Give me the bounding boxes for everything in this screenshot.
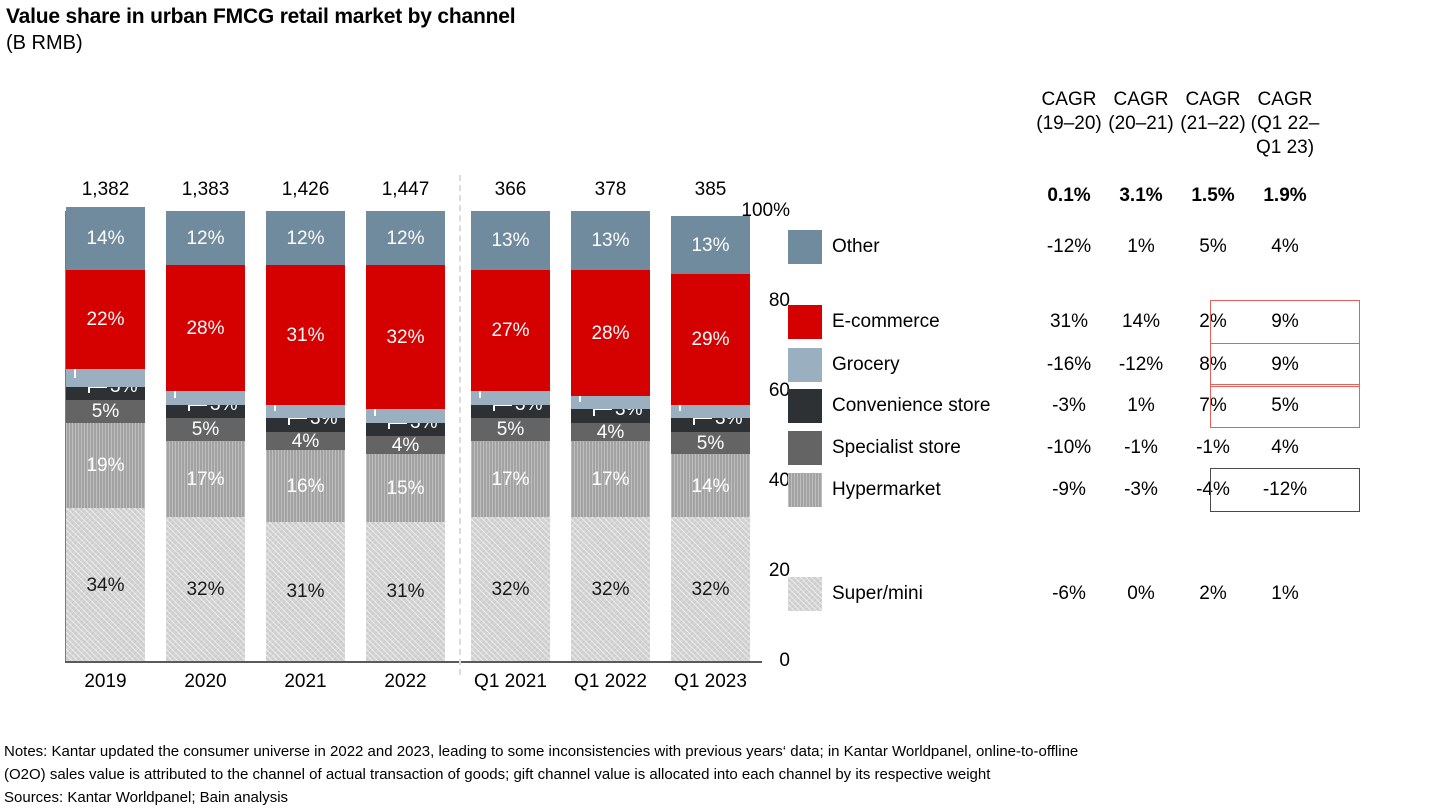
footnotes: Notes: Kantar updated the consumer unive… [4,740,1436,809]
cagr-value-specialist-store-col4: 4% [1210,437,1360,459]
cagr-value-grocery-col4: 9% [1210,343,1360,387]
legend-swatch-specialist-store [788,431,822,465]
cagr-total-value: 1.9% [1210,185,1360,207]
bar-segment-label: 4% [571,423,650,442]
cagr-value-hypermarket-col4: -12% [1210,468,1360,512]
notes-line-2: (O2O) sales value is attributed to the c… [4,763,1436,786]
bar-segment-label: 17% [471,470,550,489]
legend-label-other: Other [832,237,880,257]
legend-label-specialist-store: Specialist store [832,438,961,458]
legend-label-convenience-store: Convenience store [832,396,990,416]
bar-segment-label: 32% [366,328,445,347]
legend-swatch-e-commerce [788,305,822,339]
bar-segment-label: 32% [166,580,245,599]
x-tick-2020: 2020 [151,671,261,693]
cagr-value-e-commerce-col4: 9% [1210,300,1360,344]
bar-segment-label: 5% [166,420,245,439]
bar-segment-label: 13% [671,236,750,255]
x-axis-line [65,661,762,663]
bar-segment-grocery [366,409,445,423]
bar-segment-label: 17% [571,470,650,489]
sources-line: Sources: Kantar Worldpanel; Bain analysi… [4,786,1436,809]
bar-segment-label: 16% [266,477,345,496]
legend-swatch-super-mini [788,577,822,611]
x-tick-q1-2021: Q1 2021 [456,671,566,693]
cagr-header-line3: Q1 23) [1210,136,1360,160]
bar-segment-label: 28% [571,324,650,343]
bar-segment-grocery [166,391,245,405]
legend-label-e-commerce: E-commerce [832,312,940,332]
x-tick-2021: 2021 [251,671,361,693]
bar-segment-label: 4% [266,432,345,451]
bar-segment-label: 4% [366,436,445,455]
bar-total-label: 1,447 [351,179,461,201]
legend-and-cagr-table: CAGR(19–20)CAGR(20–21)CAGR(21–22)CAGR(Q1… [786,0,1440,700]
legend-label-super-mini: Super/mini [832,584,923,604]
bar-total-label: 385 [656,179,766,201]
legend-swatch-grocery [788,348,822,382]
bar-segment-label: 12% [366,229,445,248]
bar-segment-label: 31% [266,582,345,601]
legend-swatch-other [788,230,822,264]
bar-segment-label: 13% [471,231,550,250]
bar-segment-label: 17% [166,470,245,489]
x-tick-2022: 2022 [351,671,461,693]
bar-segment-label: 5% [66,402,145,421]
bar-segment-label: 31% [366,582,445,601]
cagr-header-line2: (Q1 22– [1210,112,1360,136]
bar-segment-grocery [66,369,145,387]
bar-segment-label: 12% [166,229,245,248]
x-tick-2019: 2019 [51,671,161,693]
bar-segment-grocery [266,405,345,419]
bar-segment-label: 34% [66,576,145,595]
x-tick-q1-2023: Q1 2023 [656,671,766,693]
legend-swatch-convenience-store [788,389,822,423]
bar-segment-label: 14% [66,229,145,248]
bar-segment-label: 29% [671,330,750,349]
bar-segment-label: 5% [471,420,550,439]
legend-label-hypermarket: Hypermarket [832,480,941,500]
bar-segment-label: 5% [671,434,750,453]
bar-segment-label: 19% [66,456,145,475]
x-tick-q1-2022: Q1 2022 [556,671,666,693]
cagr-header-line1: CAGR [1210,88,1360,112]
bar-segment-label: 27% [471,321,550,340]
notes-line-1: Notes: Kantar updated the consumer unive… [4,740,1436,763]
bar-total-label: 1,426 [251,179,361,201]
legend-label-grocery: Grocery [832,355,900,375]
cagr-header-4: CAGR(Q1 22–Q1 23) [1210,88,1360,160]
bar-segment-label: 13% [571,231,650,250]
cagr-value-super-mini-col4: 1% [1210,583,1360,605]
chart-plot-area: 020406080100% 1,38234%19%5%3%4%22%14%1,3… [0,0,790,700]
bar-segment-label: 15% [366,479,445,498]
bar-segment-label: 31% [266,326,345,345]
bar-segment-label: 32% [471,580,550,599]
bar-total-label: 1,383 [151,179,261,201]
bar-segment-grocery [471,391,550,405]
bar-total-label: 366 [456,179,566,201]
bar-total-label: 378 [556,179,666,201]
bar-total-label: 1,382 [51,179,161,201]
bar-segment-label: 32% [571,580,650,599]
cagr-value-other-col4: 4% [1210,236,1360,258]
bar-segment-label: 22% [66,310,145,329]
bar-segment-grocery [671,405,750,419]
bar-segment-label: 12% [266,229,345,248]
bar-segment-label: 32% [671,580,750,599]
legend-swatch-hypermarket [788,473,822,507]
period-divider [459,175,461,675]
bar-segment-grocery [571,396,650,410]
cagr-value-convenience-store-col4: 5% [1210,384,1360,428]
bar-segment-label: 28% [166,319,245,338]
bar-segment-label: 14% [671,477,750,496]
